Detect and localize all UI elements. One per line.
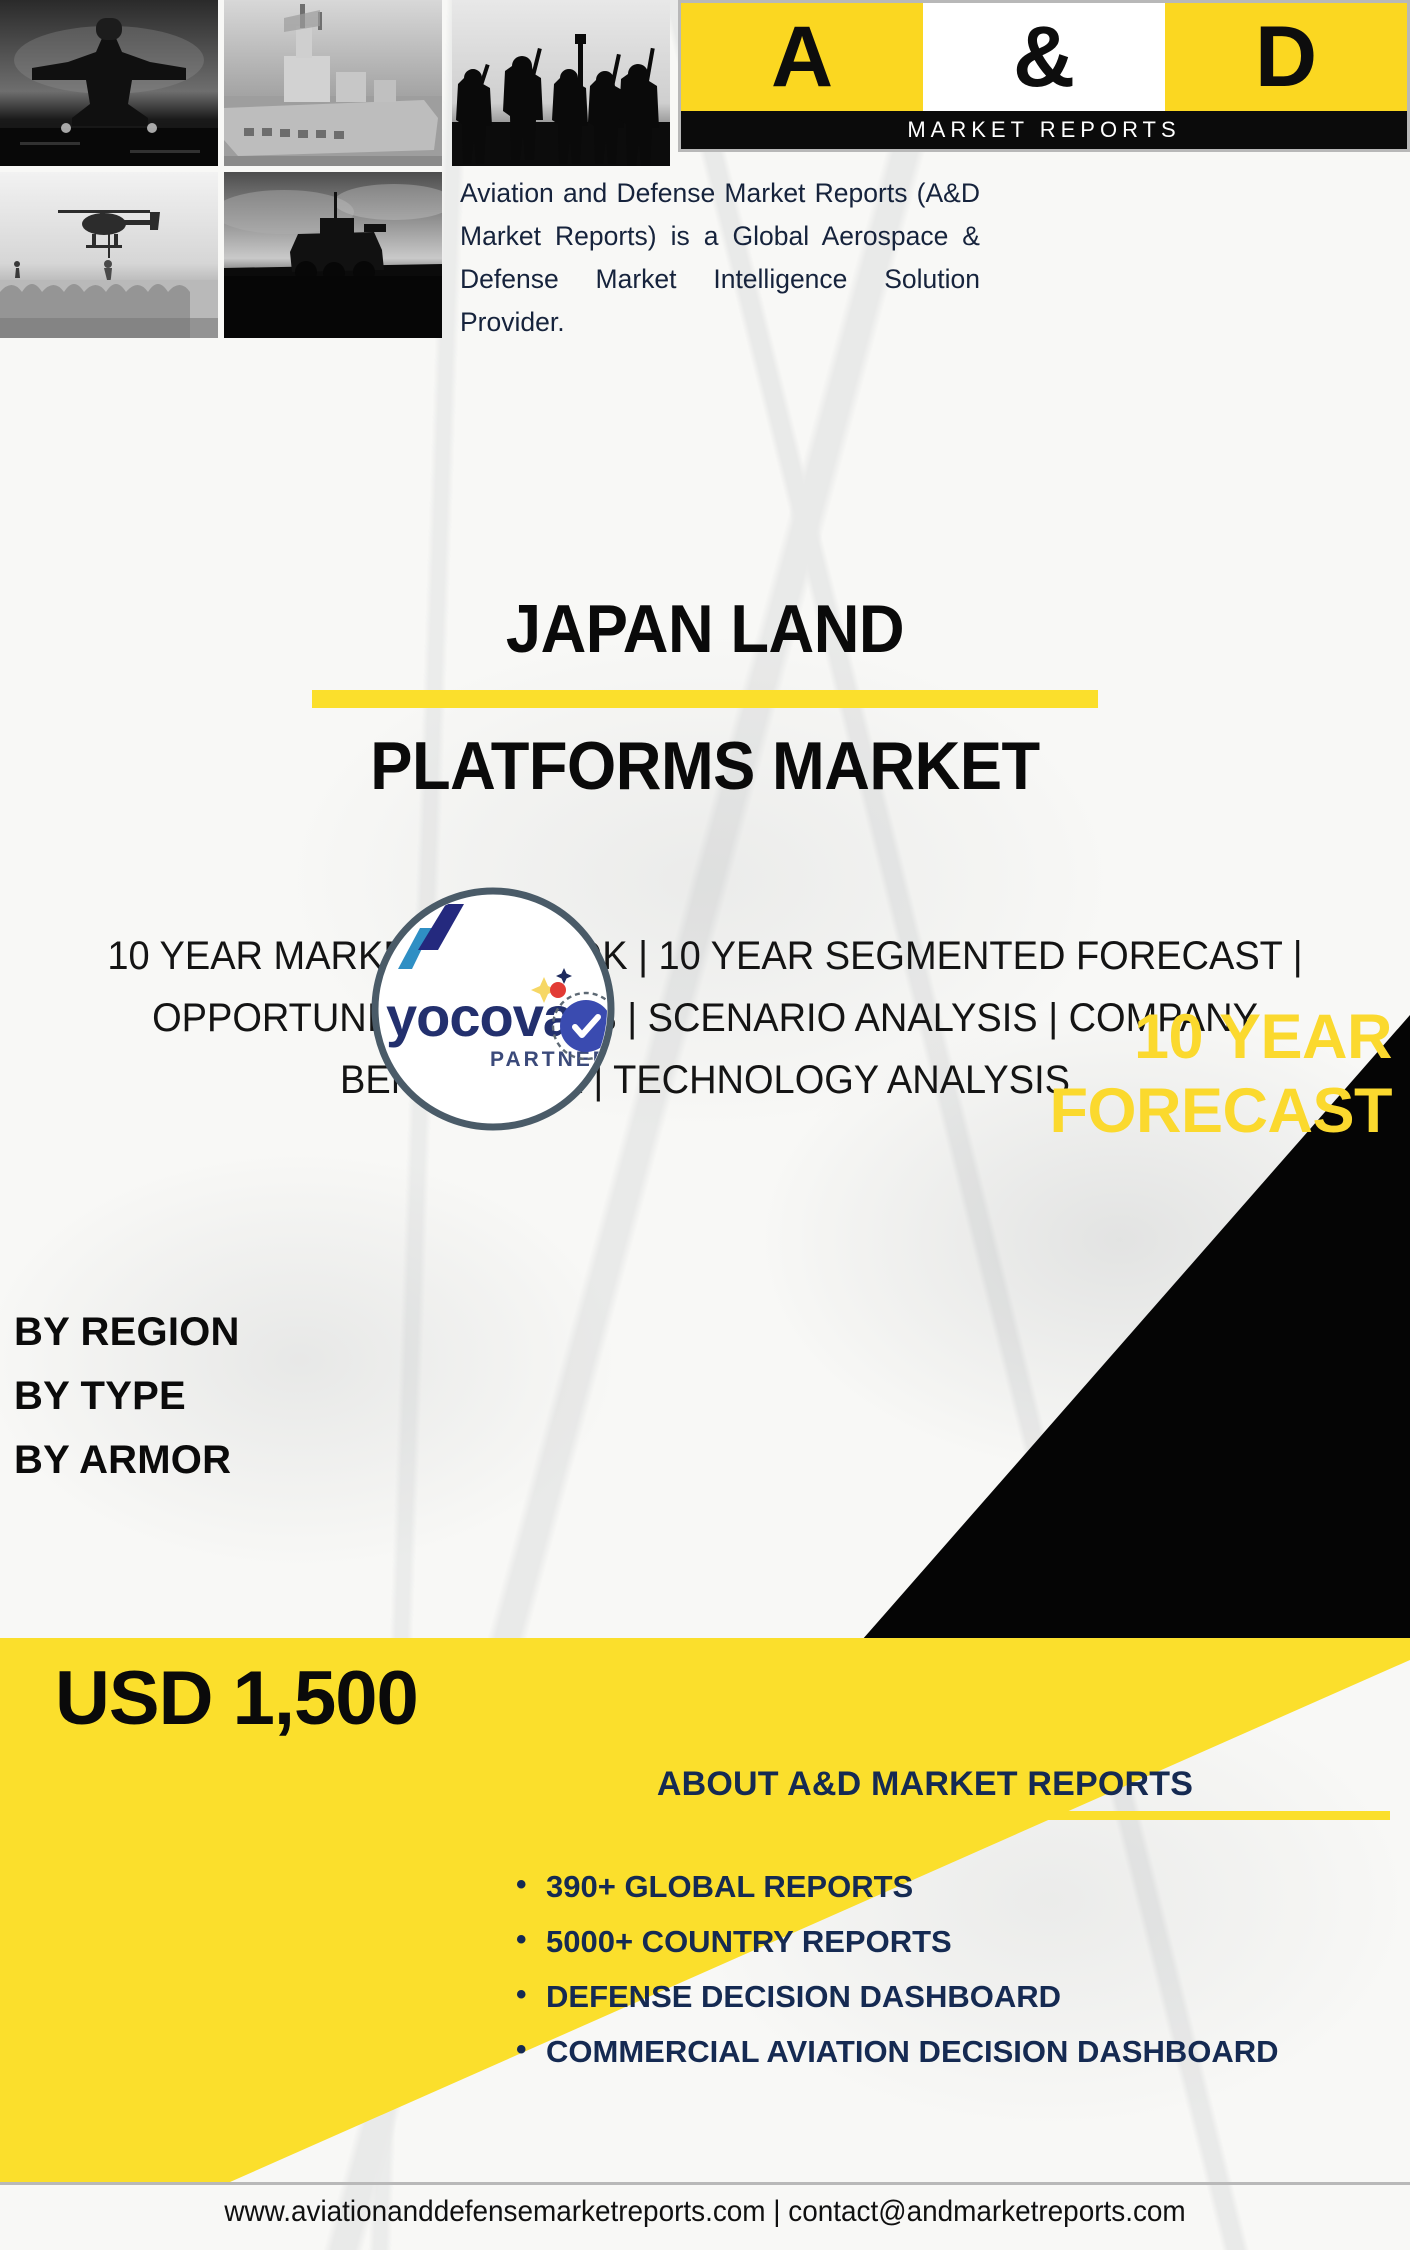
about-section: ABOUT A&D MARKET REPORTS 390+ GLOBAL REP… (460, 1765, 1390, 2084)
list-item: DEFENSE DECISION DASHBOARD (516, 1974, 1390, 2019)
price-label: USD 1,500 (55, 1655, 418, 1742)
title-divider-rule (312, 690, 1098, 708)
about-list: 390+ GLOBAL REPORTS 5000+ COUNTRY REPORT… (460, 1864, 1390, 2074)
segment-list: BY REGION BY TYPE BY ARMOR (14, 1300, 240, 1492)
about-heading-underline (460, 1811, 1390, 1820)
report-title: JAPAN LAND PLATFORMS MARKET (0, 595, 1410, 800)
poster-root: A & D MARKET REPORTS Aviation and Defens… (0, 0, 1410, 2250)
yocova-badge-graphic: yocova PARTNER (368, 884, 618, 1134)
list-item: COMMERCIAL AVIATION DECISION DASHBOARD (516, 2029, 1390, 2074)
list-item: 5000+ COUNTRY REPORTS (516, 1919, 1390, 1964)
footer-divider (0, 2182, 1410, 2185)
segment-item-armor: BY ARMOR (14, 1428, 240, 1492)
title-line-1: JAPAN LAND (49, 595, 1360, 663)
title-line-2: PLATFORMS MARKET (49, 732, 1360, 800)
yocova-wordmark: yocova (386, 985, 575, 1048)
segment-item-type: BY TYPE (14, 1364, 240, 1428)
footer-contact[interactable]: www.aviationanddefensemarketreports.com … (49, 2195, 1360, 2229)
segment-item-region: BY REGION (14, 1300, 240, 1364)
forecast-callout: 10 YEAR FORECAST (620, 1000, 1392, 1148)
about-heading: ABOUT A&D MARKET REPORTS (460, 1765, 1390, 1804)
list-item: 390+ GLOBAL REPORTS (516, 1864, 1390, 1909)
forecast-line-1: 10 YEAR (620, 1000, 1392, 1074)
forecast-line-2: FORECAST (620, 1074, 1392, 1148)
